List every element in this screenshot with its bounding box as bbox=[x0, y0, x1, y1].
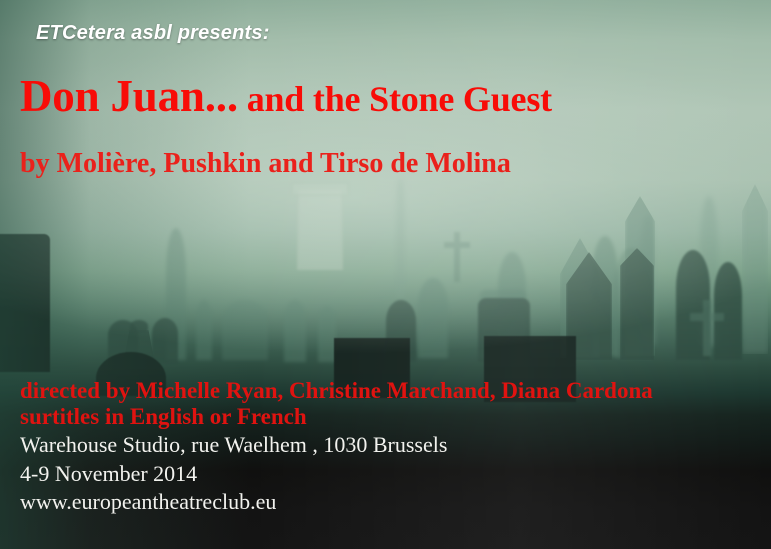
directed-by-line: directed by Michelle Ryan, Christine Mar… bbox=[20, 378, 653, 404]
dates-line: 4-9 November 2014 bbox=[20, 461, 197, 487]
poster-title: Don Juan... and the Stone Guest bbox=[20, 70, 552, 122]
surtitles-line: surtitles in English or French bbox=[20, 404, 307, 430]
theatre-poster: ETCetera asbl presents: Don Juan... and … bbox=[0, 0, 771, 549]
presenter-line: ETCetera asbl presents: bbox=[36, 22, 270, 45]
website-line[interactable]: www.europeantheatreclub.eu bbox=[20, 489, 276, 515]
title-subtitle: and the Stone Guest bbox=[238, 79, 552, 119]
venue-line: Warehouse Studio, rue Waelhem , 1030 Bru… bbox=[20, 432, 447, 458]
authors-line: by Molière, Pushkin and Tirso de Molina bbox=[20, 148, 511, 180]
title-main: Don Juan... bbox=[20, 71, 238, 121]
